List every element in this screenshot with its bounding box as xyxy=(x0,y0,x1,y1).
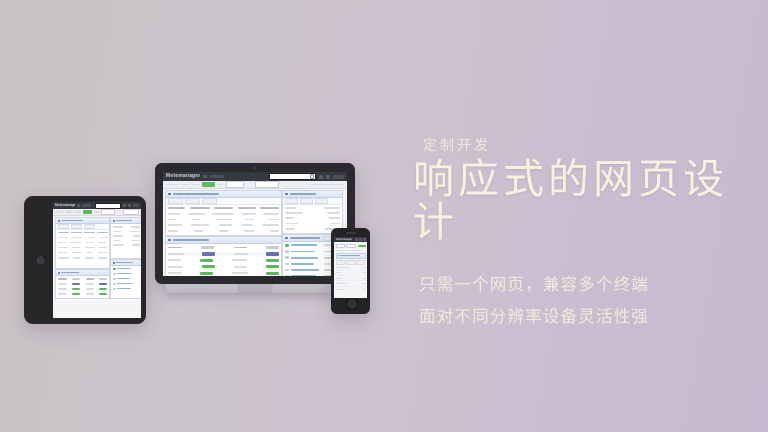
panel-title-3 xyxy=(290,193,316,195)
dashboard-brand-phone: Metemanager xyxy=(336,237,353,242)
filter-label-3 xyxy=(192,184,199,186)
phone-body xyxy=(334,242,367,291)
filter-label-4-tablet xyxy=(94,211,99,213)
search-icon xyxy=(310,174,315,179)
tablet-panel-form xyxy=(110,217,141,259)
list-item xyxy=(336,289,366,290)
phone-tabrow xyxy=(336,260,366,265)
bell-icon-tablet[interactable] xyxy=(128,204,131,207)
page-title: 响应式的网页设计 xyxy=(413,158,765,245)
table-row xyxy=(58,232,108,234)
tablet-dashboard: Metemanager xyxy=(53,202,141,318)
list-item xyxy=(336,283,366,287)
primary-action-button[interactable] xyxy=(202,182,215,186)
phone-tab-1[interactable] xyxy=(336,260,345,265)
table-row xyxy=(58,257,108,259)
form-row xyxy=(285,217,340,219)
tablet-panel-status xyxy=(55,269,110,299)
tablet-home-button[interactable] xyxy=(35,255,46,266)
list-item[interactable] xyxy=(113,283,140,285)
table-row xyxy=(168,224,279,226)
primary-action-button-tablet[interactable] xyxy=(83,210,92,214)
list-item xyxy=(58,283,108,286)
tab-logs[interactable] xyxy=(300,198,313,204)
panel-icon-tablet-1 xyxy=(58,220,60,222)
nav-pill-tablet[interactable] xyxy=(82,204,91,207)
panel-title-2 xyxy=(173,239,209,241)
tablet-device: Metemanager xyxy=(24,196,146,324)
table-header-row xyxy=(168,207,279,209)
list-item xyxy=(58,293,108,296)
table-row xyxy=(168,219,279,221)
panel-icon-2 xyxy=(168,239,171,242)
search-input-tablet[interactable] xyxy=(95,203,121,209)
tab-history[interactable] xyxy=(202,198,217,204)
monitor-screen: Metemanager xyxy=(163,172,347,276)
table-row xyxy=(168,230,279,232)
grid-icon-tablet[interactable] xyxy=(123,204,126,207)
phone-meta-1 xyxy=(336,250,347,251)
panel-title-tablet-3 xyxy=(116,220,132,222)
filter-label-4 xyxy=(217,184,223,186)
phone-filter-2[interactable] xyxy=(346,244,355,249)
panel-data-table xyxy=(165,190,282,236)
list-item xyxy=(336,278,366,282)
tab-config[interactable] xyxy=(315,198,328,204)
smartphone-device: Metemanager xyxy=(331,228,370,314)
breadcrumb xyxy=(310,184,344,186)
panel-minimize-button[interactable] xyxy=(324,236,331,241)
filter-label-3-tablet xyxy=(75,211,81,213)
table-row xyxy=(58,237,108,239)
table-row xyxy=(58,247,108,249)
form-row xyxy=(285,207,340,209)
status-list-body xyxy=(166,244,281,276)
tablet-panel-links xyxy=(110,259,141,299)
tab-details[interactable] xyxy=(185,198,200,204)
monitor-neck xyxy=(238,284,272,293)
phone-speaker xyxy=(346,232,356,234)
phone-home-button[interactable] xyxy=(346,298,358,310)
tab-overview[interactable] xyxy=(168,198,183,204)
list-item xyxy=(58,278,108,281)
hamburger-icon-phone[interactable] xyxy=(355,238,357,240)
monitor-dashboard: Metemanager xyxy=(163,172,347,276)
list-item[interactable] xyxy=(113,273,140,275)
select-input-tablet[interactable] xyxy=(101,209,115,215)
tablet-screen: Metemanager xyxy=(53,202,141,318)
panel-title-tablet-1 xyxy=(61,220,83,222)
user-menu-monitor[interactable] xyxy=(333,175,344,179)
eyebrow-text: 定制开发 xyxy=(423,138,765,152)
panel-status-list xyxy=(165,236,282,276)
list-item xyxy=(336,272,366,276)
phone-primary-button[interactable] xyxy=(358,245,365,248)
phone-screen: Metemanager xyxy=(334,237,367,298)
table-header-row xyxy=(168,246,279,249)
webcam-icon xyxy=(254,167,256,169)
phone-tab-2[interactable] xyxy=(346,260,355,265)
list-item[interactable] xyxy=(113,278,140,280)
panel-title-tablet-4 xyxy=(116,262,133,264)
dashboard-brand-monitor: Metemanager xyxy=(166,172,200,181)
list-item xyxy=(336,267,366,271)
promo-banner: Metemanager xyxy=(0,0,768,432)
list-item xyxy=(168,265,279,268)
grid-icon-phone[interactable] xyxy=(359,238,361,240)
tablet-status-list xyxy=(56,276,109,297)
panel-icon-3 xyxy=(285,193,288,196)
search-input-monitor[interactable] xyxy=(269,173,316,180)
panel-icon-1 xyxy=(168,193,171,196)
subtitle-line-2: 面对不同分辨率设备灵活性强 xyxy=(419,307,765,328)
list-item xyxy=(168,252,279,255)
date-range-input[interactable] xyxy=(255,181,279,187)
nav-pill-monitor[interactable] xyxy=(210,175,224,178)
panel-icon-4 xyxy=(285,237,288,240)
list-item[interactable] xyxy=(113,268,140,270)
tab-1-tablet[interactable] xyxy=(58,224,69,229)
list-item xyxy=(58,288,108,291)
user-menu-tablet[interactable] xyxy=(133,204,139,207)
subtitle-block: 只需一个网页，兼容多个终端 面对不同分辨率设备灵活性强 xyxy=(415,275,765,327)
tablet-form-body xyxy=(111,224,141,248)
subtitle-line-1: 只需一个网页，兼容多个终端 xyxy=(419,275,765,296)
filter-label-1 xyxy=(166,184,178,186)
panel-title-4 xyxy=(290,237,320,239)
date-input-tablet[interactable] xyxy=(123,209,139,215)
promo-copy: 定制开发 响应式的网页设计 只需一个网页，兼容多个终端 面对不同分辨率设备灵活性… xyxy=(415,138,765,338)
phone-dashboard: Metemanager xyxy=(334,237,367,298)
table-row xyxy=(168,213,279,215)
user-icon-phone[interactable] xyxy=(363,238,365,240)
dashboard-brand-tablet: Metemanager xyxy=(55,202,75,209)
phone-filter-1[interactable] xyxy=(336,244,345,249)
list-item xyxy=(168,259,279,262)
phone-tab-3[interactable] xyxy=(356,260,365,265)
list-item xyxy=(168,272,279,275)
tab-2-tablet[interactable] xyxy=(71,224,82,229)
select-input-monitor[interactable] xyxy=(226,181,244,187)
filter-label-2 xyxy=(181,184,190,186)
tablet-link-list xyxy=(111,266,141,291)
phone-meta-2 xyxy=(348,250,361,251)
filter-label-2-tablet xyxy=(66,211,73,213)
tab-info[interactable] xyxy=(285,198,298,204)
desktop-monitor: Metemanager xyxy=(155,163,355,284)
tablet-table-body xyxy=(56,230,109,261)
phone-panel-header xyxy=(336,253,366,259)
bell-icon-monitor[interactable] xyxy=(326,175,330,179)
filter-label-1-tablet xyxy=(55,211,64,213)
menu-icon-tablet[interactable] xyxy=(77,204,80,207)
tab-3-tablet[interactable] xyxy=(84,224,95,229)
form-row xyxy=(285,212,340,214)
grid-icon-monitor[interactable] xyxy=(319,175,323,179)
menu-icon-monitor[interactable] xyxy=(203,175,207,179)
panel-detail-form xyxy=(282,190,343,234)
tablet-panel-table xyxy=(55,217,110,269)
list-item[interactable] xyxy=(113,288,140,290)
table-row xyxy=(58,242,108,244)
panel-title-1 xyxy=(173,193,219,195)
table-row xyxy=(58,252,108,254)
form-row xyxy=(285,223,340,225)
panel-title-tablet-2 xyxy=(61,272,79,274)
